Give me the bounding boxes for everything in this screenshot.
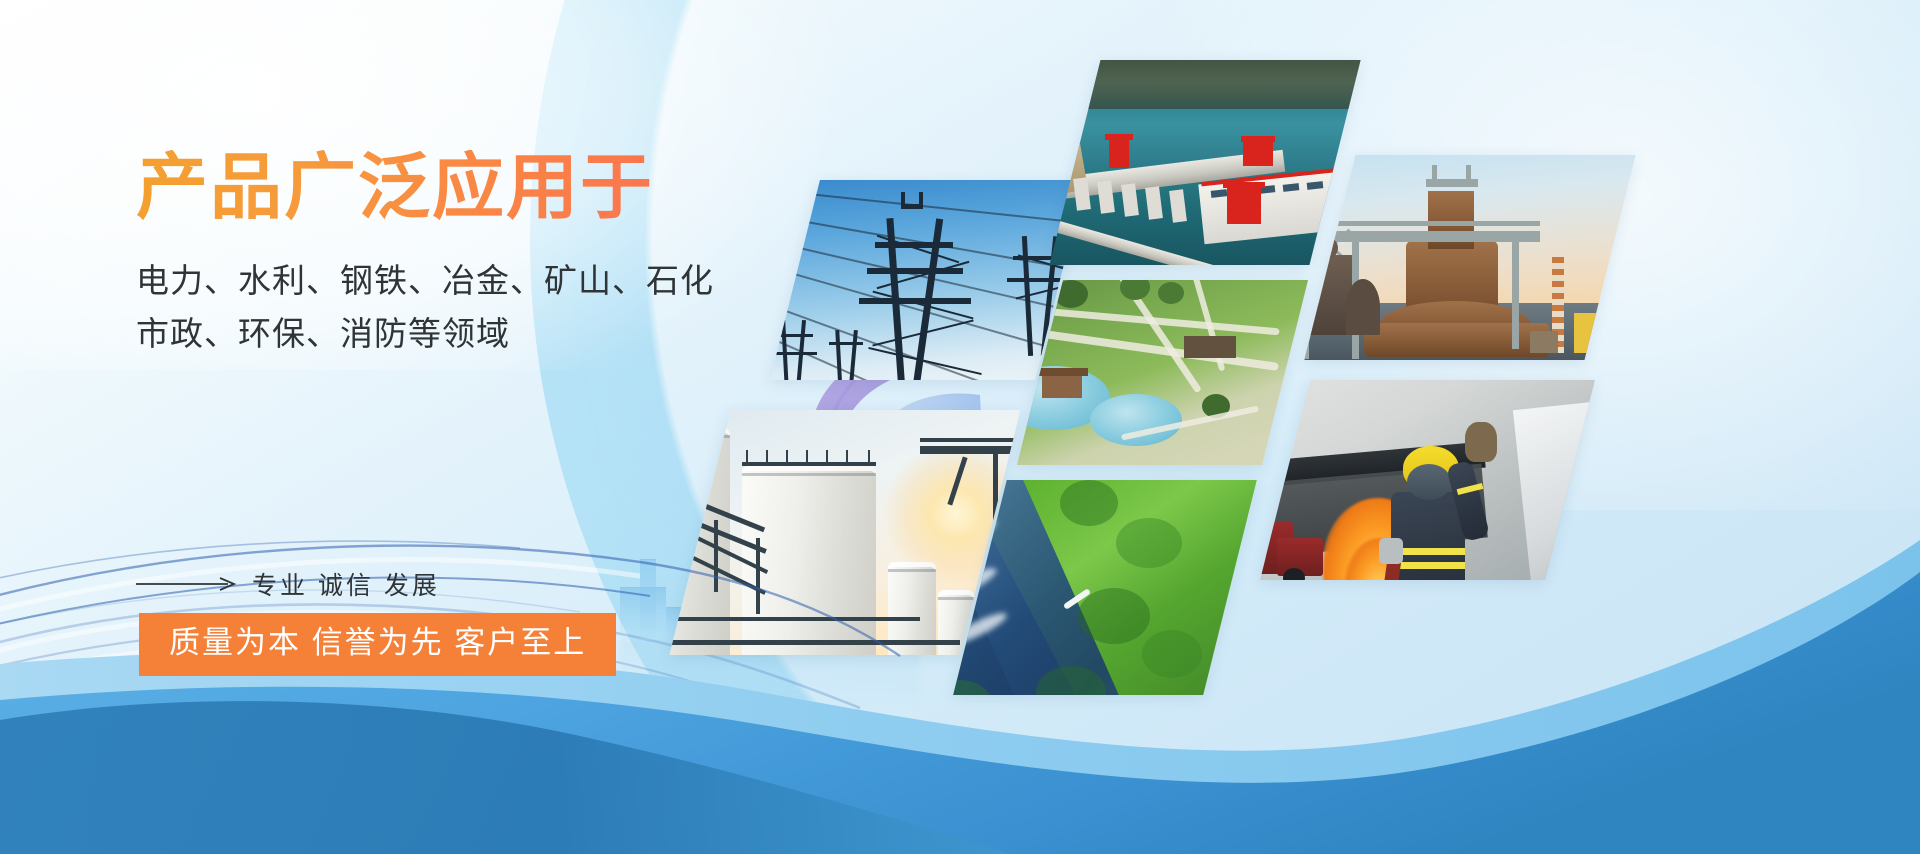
long-arrow-right-icon [136,577,242,591]
copy-block: 产品广泛应用于 电力、水利、钢铁、冶金、矿山、石化 市政、环保、消防等领域 [136,150,896,361]
tile-aerial-river-forest[interactable] [953,480,1257,695]
quality-promise-badge: 质量为本 信誉为先 客户至上 [139,613,616,676]
slogan-row: 专业 诚信 发展 [136,566,440,602]
industry-list-line-2: 市政、环保、消防等领域 [136,307,896,360]
tile-steel-mill-blast-furnace[interactable] [1304,155,1635,360]
industry-photo-collage [0,0,1920,854]
tile-hydroelectric-dam[interactable] [1049,60,1360,265]
industry-list-line-1: 电力、水利、钢铁、冶金、矿山、石化 [136,254,896,307]
tile-firefighter-training[interactable] [1260,380,1595,580]
industry-list: 电力、水利、钢铁、冶金、矿山、石化 市政、环保、消防等领域 [136,254,896,361]
promo-banner: 产品广泛应用于 电力、水利、钢铁、冶金、矿山、石化 市政、环保、消防等领域 专业… [0,0,1920,854]
slogan-text: 专业 诚信 发展 [252,566,440,602]
tile-oil-storage-tanks[interactable] [669,410,1020,655]
tile-municipal-water-park[interactable] [1017,280,1308,465]
page-title: 产品广泛应用于 [136,150,896,228]
